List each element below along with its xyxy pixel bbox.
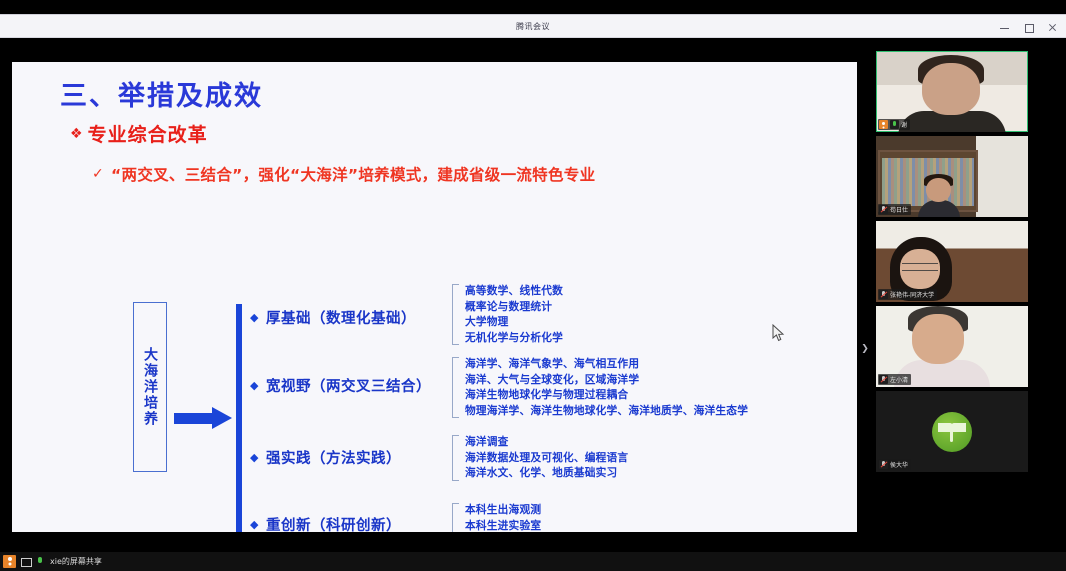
shared-screen-stage: 三、举措及成效 ❖ 专业综合改革 ✓ “两交叉、三结合”，强化“大海洋”培养模式… [0,39,866,552]
mic-muted-icon [879,375,888,384]
participant-video: 侯大华 [876,391,1028,472]
screen-share-icon[interactable] [3,555,16,568]
participants-rail: 谢 苟日仕 张艳伟-同济大学 [872,39,1066,552]
detail-line: 无机化学与分析化学 [465,331,563,346]
mic-muted-icon [879,290,888,299]
pillar-label: 厚基础（数理化基础） [266,307,416,328]
mouse-cursor-icon [772,324,785,342]
brace-icon [452,503,459,532]
participant-video: 左小清 [876,306,1028,387]
check-icon: ✓ [92,166,104,182]
host-icon [879,120,888,129]
participant-tile-1[interactable]: 谢 [876,51,1028,132]
participant-tile-3[interactable]: 张艳伟-同济大学 [876,221,1028,302]
pillar-item-3: ◆ 强实践（方法实践） [250,447,401,468]
slide-section-label: 专业综合改革 [88,120,208,147]
slide-statement: ✓ “两交叉、三结合”，强化“大海洋”培养模式，建成省级一流特色专业 [92,163,595,185]
detail-line: 海洋数据处理及可视化、编程语言 [465,451,628,466]
detail-line: 高等数学、线性代数 [465,284,563,299]
screen-share-status-bar: xie的屏幕共享 [0,552,1066,571]
participant-tile-5[interactable]: 侯大华 [876,391,1028,472]
presentation-slide: 三、举措及成效 ❖ 专业综合改革 ✓ “两交叉、三结合”，强化“大海洋”培养模式… [12,62,857,532]
participant-badge: 张艳伟-同济大学 [878,289,937,300]
diamond-icon: ◆ [250,311,259,324]
screen-share-label: xie的屏幕共享 [50,556,102,567]
minimize-icon[interactable] [999,22,1010,33]
pillar-label: 宽视野（两交叉三结合） [266,375,431,396]
participant-video: 张艳伟-同济大学 [876,221,1028,302]
participant-name: 谢 [901,120,907,129]
pillar-item-2: ◆ 宽视野（两交叉三结合） [250,375,431,396]
app-title: 腾讯会议 [516,21,550,32]
pillar-label: 重创新（科研创新） [266,514,401,532]
participant-badge: 侯大华 [878,459,911,470]
participant-badge: 左小清 [878,374,911,385]
close-icon[interactable] [1047,22,1058,33]
brace-icon [452,284,459,345]
brace-icon [452,435,459,481]
diamond-icon: ◆ [250,379,259,392]
detail-line: 海洋、大气与全球变化，区域海洋学 [465,373,748,388]
slide-statement-text: “两交叉、三结合”，强化“大海洋”培养模式，建成省级一流特色专业 [111,163,595,185]
window-icon[interactable] [20,556,31,567]
detail-line: 海洋水文、化学、地质基础实习 [465,466,628,481]
slide-section-heading: ❖ 专业综合改革 [70,120,208,147]
mic-on-icon[interactable] [34,556,45,567]
participant-badge: 苟日仕 [878,204,911,215]
diamond-bullet-icon: ❖ [70,126,84,142]
participant-name: 左小清 [890,375,908,384]
pillar-item-4: ◆ 重创新（科研创新） [250,514,401,532]
detail-line: 海洋学、海洋气象学、海气相互作用 [465,357,748,372]
detail-line: 概率论与数理统计 [465,300,563,315]
maximize-icon[interactable] [1023,22,1034,33]
participant-tile-4[interactable]: 左小清 [876,306,1028,387]
participant-name: 张艳伟-同济大学 [890,290,934,299]
pillar-item-1: ◆ 厚基础（数理化基础） [250,307,416,328]
training-model-box: 大海洋培养 [133,302,167,472]
sprout-avatar-icon [932,412,972,452]
diamond-icon: ◆ [250,518,259,531]
pillar-label: 强实践（方法实践） [266,447,401,468]
vertical-divider-bar [236,304,242,532]
detail-line: 物理海洋学、海洋生物地球化学、海洋地质学、海洋生态学 [465,404,748,419]
diamond-icon: ◆ [250,451,259,464]
participant-name: 侯大华 [890,460,908,469]
meeting-window: 腾讯会议 三、举措及成效 ❖ 专业综合改革 ✓ “两交叉、三结合”，强化“大海洋… [0,0,1066,571]
pillar-details-1: 高等数学、线性代数 概率论与数理统计 大学物理 无机化学与分析化学 [452,284,563,345]
detail-line: 大学物理 [465,315,563,330]
participant-video: 苟日仕 [876,136,1028,217]
mic-muted-icon [879,460,888,469]
participant-badge: 谢 [878,119,910,130]
mic-on-icon [890,120,899,129]
participant-tile-2[interactable]: 苟日仕 [876,136,1028,217]
pillar-details-2: 海洋学、海洋气象学、海气相互作用 海洋、大气与全球变化，区域海洋学 海洋生物地球… [452,357,748,418]
detail-line: 本科生出海观测 [465,503,563,518]
mic-muted-icon [879,205,888,214]
detail-line: 海洋生物地球化学与物理过程耦合 [465,388,748,403]
window-controls [999,15,1058,39]
chevron-right-icon[interactable]: ❯ [860,334,870,362]
training-model-label: 大海洋培养 [140,347,160,427]
detail-line: 海洋调查 [465,435,628,450]
participant-name: 苟日仕 [890,205,908,214]
pillar-details-3: 海洋调查 海洋数据处理及可视化、编程语言 海洋水文、化学、地质基础实习 [452,435,628,481]
detail-line: 本科生进实验室 [465,519,563,533]
participant-video: 谢 [876,51,1028,132]
flow-arrow-icon [174,407,232,429]
brace-icon [452,357,459,418]
title-bar: 腾讯会议 [0,14,1066,38]
pillar-details-4: 本科生出海观测 本科生进实验室 创新创业、各类竞赛 [452,503,563,532]
slide-title: 三、举措及成效 [60,74,263,113]
